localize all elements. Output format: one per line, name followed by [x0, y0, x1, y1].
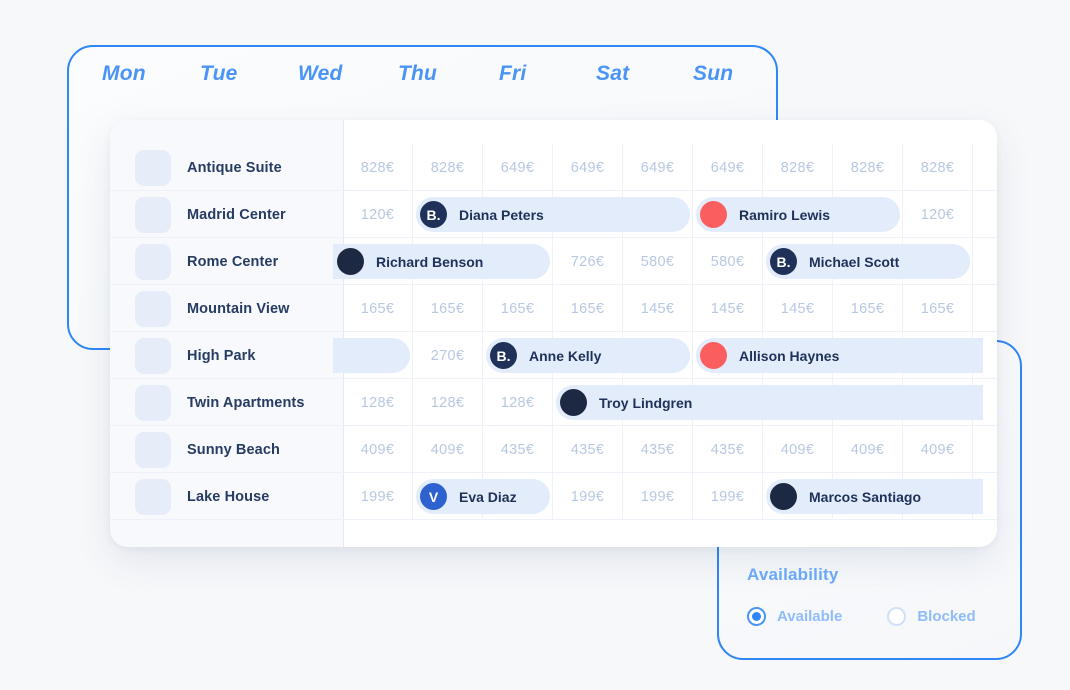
price-cell[interactable]: 165€: [483, 285, 553, 332]
property-name-cell[interactable]: Rome Center: [110, 238, 343, 285]
price-cell[interactable]: 165€: [343, 285, 413, 332]
booking-pill-partial[interactable]: [333, 338, 410, 373]
property-name-cell[interactable]: Twin Apartments: [110, 379, 343, 426]
property-name-label: Mountain View: [187, 301, 290, 317]
price-cell[interactable]: 165€: [903, 285, 973, 332]
price-cell[interactable]: 649€: [623, 144, 693, 191]
property-name-label: High Park: [187, 348, 256, 364]
price-cell[interactable]: 120€: [343, 191, 413, 238]
property-name-label: Lake House: [187, 489, 269, 505]
price-cell[interactable]: 145€: [693, 285, 763, 332]
property-name-label: Sunny Beach: [187, 442, 280, 458]
booking-pill[interactable]: Marcos Santiago: [766, 479, 983, 514]
guest-name-label: Allison Haynes: [739, 348, 839, 364]
guest-name-label: Richard Benson: [376, 254, 483, 270]
property-thumbnail-icon: [135, 150, 171, 186]
price-cell[interactable]: 128€: [413, 379, 483, 426]
property-name-cell[interactable]: Antique Suite: [110, 144, 343, 191]
weekday-label-tue: Tue: [200, 62, 238, 86]
guest-name-label: Diana Peters: [459, 207, 544, 223]
legend-option-label: Available: [777, 608, 842, 625]
price-cell[interactable]: 165€: [413, 285, 483, 332]
weekday-label-wed: Wed: [298, 62, 343, 86]
price-cell[interactable]: 828€: [833, 144, 903, 191]
price-cell[interactable]: 120€: [903, 191, 973, 238]
price-cell[interactable]: 199€: [693, 473, 763, 520]
price-cell[interactable]: 409€: [763, 426, 833, 473]
price-cell[interactable]: 409€: [413, 426, 483, 473]
table-row[interactable]: Rome Center726€580€580€Richard BensonB.M…: [110, 238, 997, 285]
table-row[interactable]: Lake House199€199€199€199€VEva DiazMarco…: [110, 473, 997, 520]
price-cell[interactable]: 145€: [623, 285, 693, 332]
price-cell[interactable]: 828€: [763, 144, 833, 191]
price-cell[interactable]: 165€: [833, 285, 903, 332]
guest-name-label: Ramiro Lewis: [739, 207, 830, 223]
guest-name-label: Michael Scott: [809, 254, 899, 270]
price-cell[interactable]: 270€: [413, 332, 483, 379]
price-cell[interactable]: 828€: [343, 144, 413, 191]
availability-legend: Availability AvailableBlocked: [747, 565, 1007, 626]
price-cell[interactable]: 199€: [623, 473, 693, 520]
price-cell[interactable]: 726€: [553, 238, 623, 285]
booking-pill[interactable]: B.Michael Scott: [766, 244, 970, 279]
radio-selected-icon[interactable]: [747, 607, 766, 626]
table-row[interactable]: Madrid Center120€120€B.Diana PetersRamir…: [110, 191, 997, 238]
vrbo-logo-icon: V: [420, 483, 447, 510]
airbnb-logo-icon: [700, 342, 727, 369]
booking-logo-icon: B.: [770, 248, 797, 275]
table-row[interactable]: Sunny Beach409€409€435€435€435€435€409€4…: [110, 426, 997, 473]
price-cell[interactable]: 435€: [483, 426, 553, 473]
table-row[interactable]: Mountain View165€165€165€165€145€145€145…: [110, 285, 997, 332]
price-cell[interactable]: 580€: [693, 238, 763, 285]
legend-option-blocked[interactable]: Blocked: [887, 607, 975, 626]
table-row[interactable]: Twin Apartments128€128€128€Troy Lindgren: [110, 379, 997, 426]
price-cell[interactable]: 580€: [623, 238, 693, 285]
price-cell[interactable]: 199€: [343, 473, 413, 520]
property-name-label: Rome Center: [187, 254, 278, 270]
legend-title: Availability: [747, 565, 1007, 585]
property-thumbnail-icon: [135, 338, 171, 374]
property-thumbnail-icon: [135, 244, 171, 280]
price-cell[interactable]: 828€: [413, 144, 483, 191]
price-cell[interactable]: 649€: [553, 144, 623, 191]
price-cell[interactable]: 128€: [483, 379, 553, 426]
pricing-calendar-card: Antique Suite828€828€649€649€649€649€828…: [110, 120, 997, 547]
booking-pill[interactable]: VEva Diaz: [416, 479, 550, 514]
price-cell[interactable]: 409€: [833, 426, 903, 473]
calendar-screen: MonTueWedThuFriSatSun Antique Suite828€8…: [0, 0, 1070, 690]
price-cell[interactable]: 409€: [343, 426, 413, 473]
legend-options: AvailableBlocked: [747, 607, 1007, 626]
weekday-label-fri: Fri: [499, 62, 526, 86]
price-cell[interactable]: 165€: [553, 285, 623, 332]
property-thumbnail-icon: [135, 385, 171, 421]
property-name-cell[interactable]: Lake House: [110, 473, 343, 520]
property-name-cell[interactable]: High Park: [110, 332, 343, 379]
property-thumbnail-icon: [135, 479, 171, 515]
guest-name-label: Troy Lindgren: [599, 395, 692, 411]
booking-logo-icon: B.: [490, 342, 517, 369]
weekday-label-sat: Sat: [596, 62, 629, 86]
price-cell[interactable]: 199€: [553, 473, 623, 520]
plain-avatar-icon: [337, 248, 364, 275]
property-name-label: Antique Suite: [187, 160, 282, 176]
weekday-label-mon: Mon: [102, 62, 146, 86]
booking-pill[interactable]: Ramiro Lewis: [696, 197, 900, 232]
legend-option-label: Blocked: [917, 608, 975, 625]
price-cell[interactable]: 435€: [693, 426, 763, 473]
booking-pill[interactable]: Richard Benson: [333, 244, 550, 279]
booking-logo-icon: B.: [420, 201, 447, 228]
plain-avatar-icon: [560, 389, 587, 416]
price-cell[interactable]: 145€: [763, 285, 833, 332]
booking-pill[interactable]: B.Diana Peters: [416, 197, 690, 232]
price-cell[interactable]: 649€: [693, 144, 763, 191]
guest-name-label: Anne Kelly: [529, 348, 601, 364]
booking-pill[interactable]: Troy Lindgren: [556, 385, 983, 420]
airbnb-logo-icon: [700, 201, 727, 228]
legend-option-available[interactable]: Available: [747, 607, 842, 626]
property-name-cell[interactable]: Madrid Center: [110, 191, 343, 238]
property-thumbnail-icon: [135, 432, 171, 468]
property-name-label: Twin Apartments: [187, 395, 305, 411]
price-cell[interactable]: 409€: [903, 426, 973, 473]
radio-unselected-icon[interactable]: [887, 607, 906, 626]
guest-name-label: Eva Diaz: [459, 489, 517, 505]
guest-name-label: Marcos Santiago: [809, 489, 921, 505]
table-row[interactable]: High Park270€B.Anne KellyAllison Haynes: [110, 332, 997, 379]
table-row[interactable]: Antique Suite828€828€649€649€649€649€828…: [110, 144, 997, 191]
weekday-label-sun: Sun: [693, 62, 733, 86]
property-name-cell[interactable]: Mountain View: [110, 285, 343, 332]
price-cell[interactable]: 128€: [343, 379, 413, 426]
price-cell[interactable]: 649€: [483, 144, 553, 191]
weekday-label-thu: Thu: [398, 62, 437, 86]
property-name-cell[interactable]: Sunny Beach: [110, 426, 343, 473]
price-cell[interactable]: 435€: [623, 426, 693, 473]
price-cell[interactable]: 828€: [903, 144, 973, 191]
property-name-label: Madrid Center: [187, 207, 286, 223]
booking-pill[interactable]: Allison Haynes: [696, 338, 983, 373]
weekday-header: MonTueWedThuFriSatSun: [67, 62, 778, 108]
price-cell[interactable]: 435€: [553, 426, 623, 473]
property-thumbnail-icon: [135, 197, 171, 233]
plain-avatar-icon: [770, 483, 797, 510]
property-thumbnail-icon: [135, 291, 171, 327]
booking-pill[interactable]: B.Anne Kelly: [486, 338, 690, 373]
